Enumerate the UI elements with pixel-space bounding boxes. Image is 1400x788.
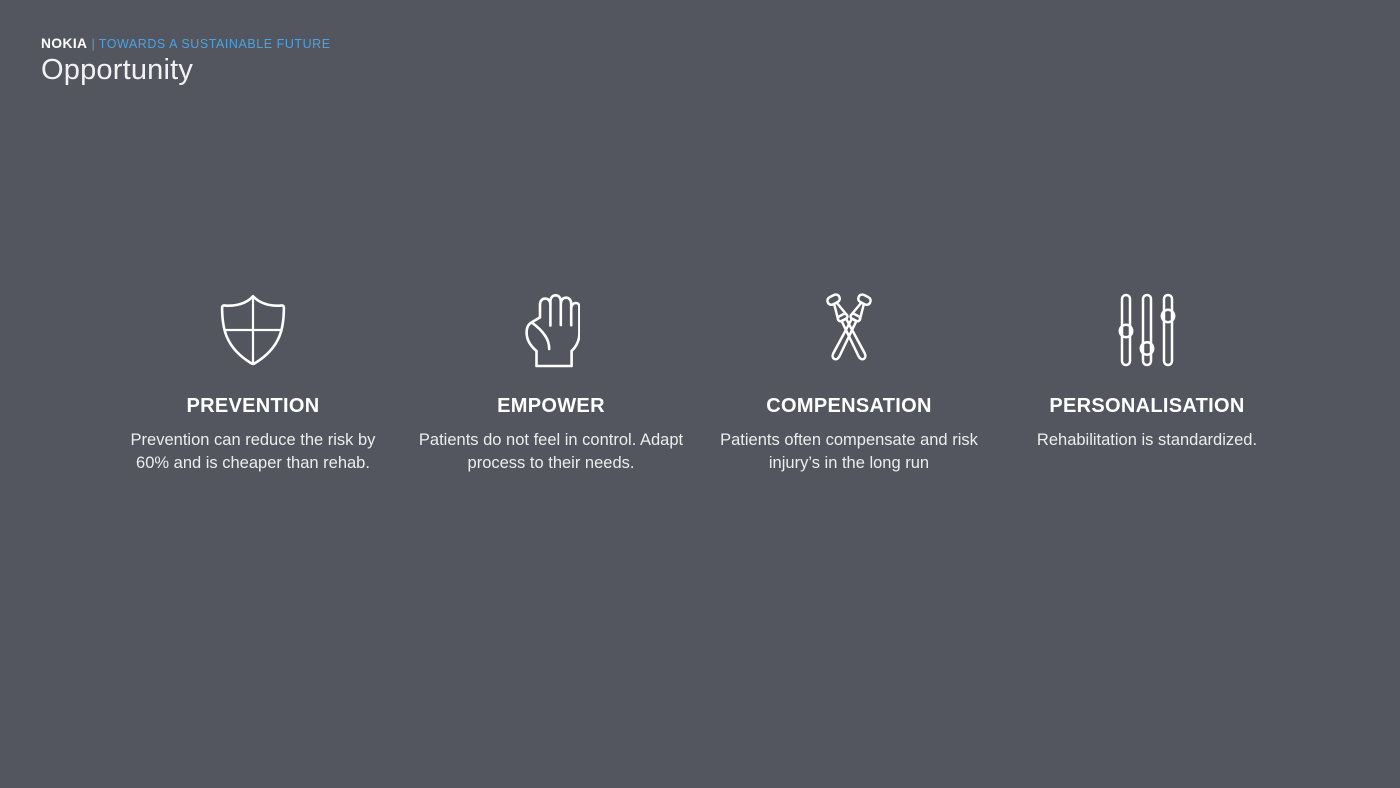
- column-empower: EMPOWER Patients do not feel in control.…: [402, 284, 700, 474]
- shield-icon: [218, 284, 288, 376]
- brand-line: NOKIA | TOWARDS A SUSTAINABLE FUTURE: [41, 36, 331, 50]
- column-title: PERSONALISATION: [1049, 394, 1244, 418]
- page-title: Opportunity: [41, 53, 331, 87]
- column-prevention: PREVENTION Prevention can reduce the ris…: [104, 284, 402, 474]
- column-title: EMPOWER: [497, 394, 605, 418]
- column-body: Patients often compensate and risk injur…: [718, 429, 980, 474]
- raised-fist-icon: [522, 284, 580, 376]
- column-title: COMPENSATION: [766, 394, 931, 418]
- brand-separator: |: [92, 37, 95, 51]
- sliders-icon: [1115, 284, 1179, 376]
- column-body: Patients do not feel in control. Adapt p…: [415, 429, 687, 474]
- slide-header: NOKIA | TOWARDS A SUSTAINABLE FUTURE Opp…: [41, 36, 331, 87]
- crutches-icon: [809, 284, 889, 376]
- brand-tagline: TOWARDS A SUSTAINABLE FUTURE: [99, 37, 331, 51]
- column-body: Rehabilitation is standardized.: [1037, 429, 1257, 452]
- column-personalisation: PERSONALISATION Rehabilitation is standa…: [998, 284, 1296, 452]
- column-compensation: COMPENSATION Patients often compensate a…: [700, 284, 998, 474]
- column-body: Prevention can reduce the risk by 60% an…: [117, 429, 389, 474]
- feature-columns: PREVENTION Prevention can reduce the ris…: [104, 284, 1296, 474]
- nokia-logo: NOKIA: [41, 36, 87, 51]
- column-title: PREVENTION: [186, 394, 319, 418]
